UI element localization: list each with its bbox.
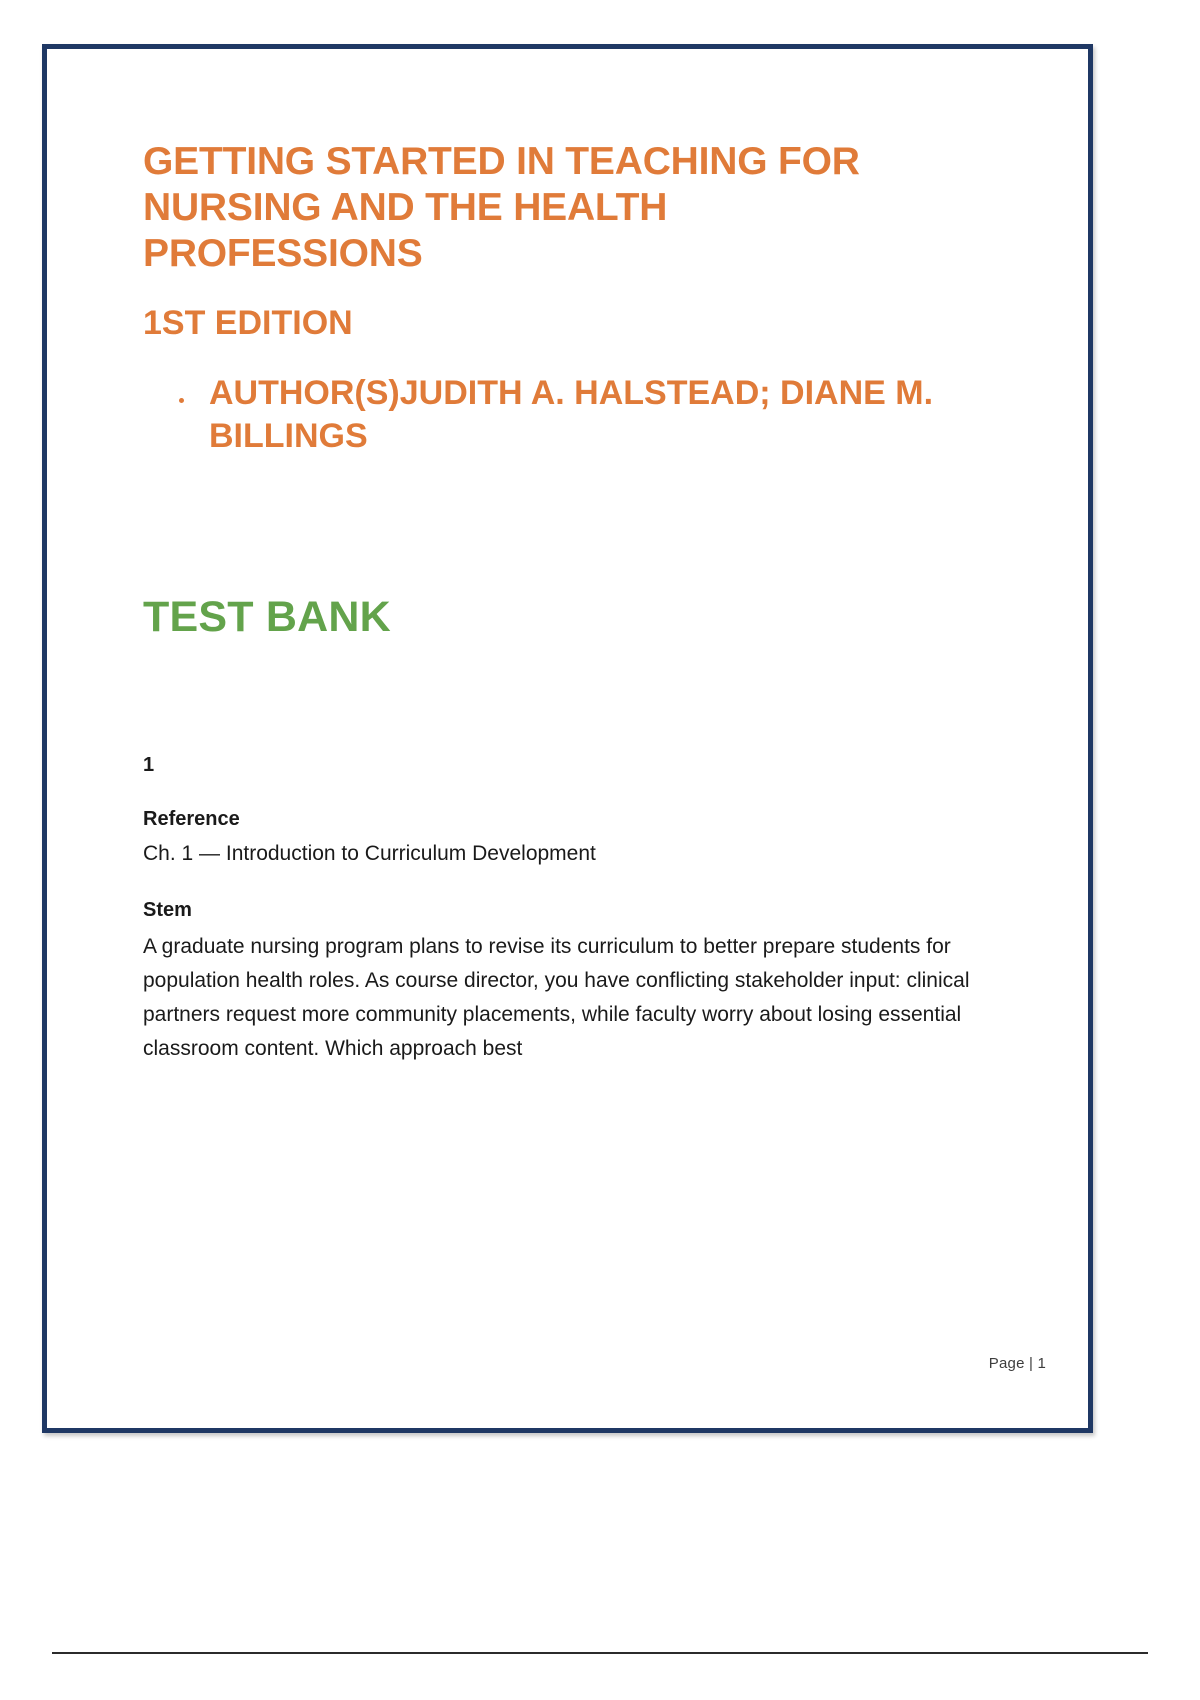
stem-label: Stem <box>143 897 1023 924</box>
page-number-footer: Page | 1 <box>989 1355 1046 1372</box>
document-edition: 1ST EDITION <box>143 303 1023 344</box>
stem-text: A graduate nursing program plans to revi… <box>143 930 1018 1066</box>
document-page: GETTING STARTED IN TEACHING FOR NURSING … <box>42 44 1093 1433</box>
page-inner-border: GETTING STARTED IN TEACHING FOR NURSING … <box>50 52 1085 1425</box>
reference-label: Reference <box>143 806 1023 833</box>
author-list: AUTHOR(S)JUDITH A. HALSTEAD; DIANE M. BI… <box>143 372 1023 459</box>
page-separator-rule <box>52 1652 1148 1654</box>
reference-value: Ch. 1 — Introduction to Curriculum Devel… <box>143 839 1023 869</box>
document-title: GETTING STARTED IN TEACHING FOR NURSING … <box>143 139 953 277</box>
test-bank-heading: TEST BANK <box>143 593 1023 642</box>
question-number: 1 <box>143 752 1023 778</box>
list-item: AUTHOR(S)JUDITH A. HALSTEAD; DIANE M. BI… <box>143 372 1009 459</box>
bullet-icon <box>179 398 184 403</box>
author-names: AUTHOR(S)JUDITH A. HALSTEAD; DIANE M. BI… <box>209 374 933 456</box>
page-content: GETTING STARTED IN TEACHING FOR NURSING … <box>143 139 1023 1066</box>
